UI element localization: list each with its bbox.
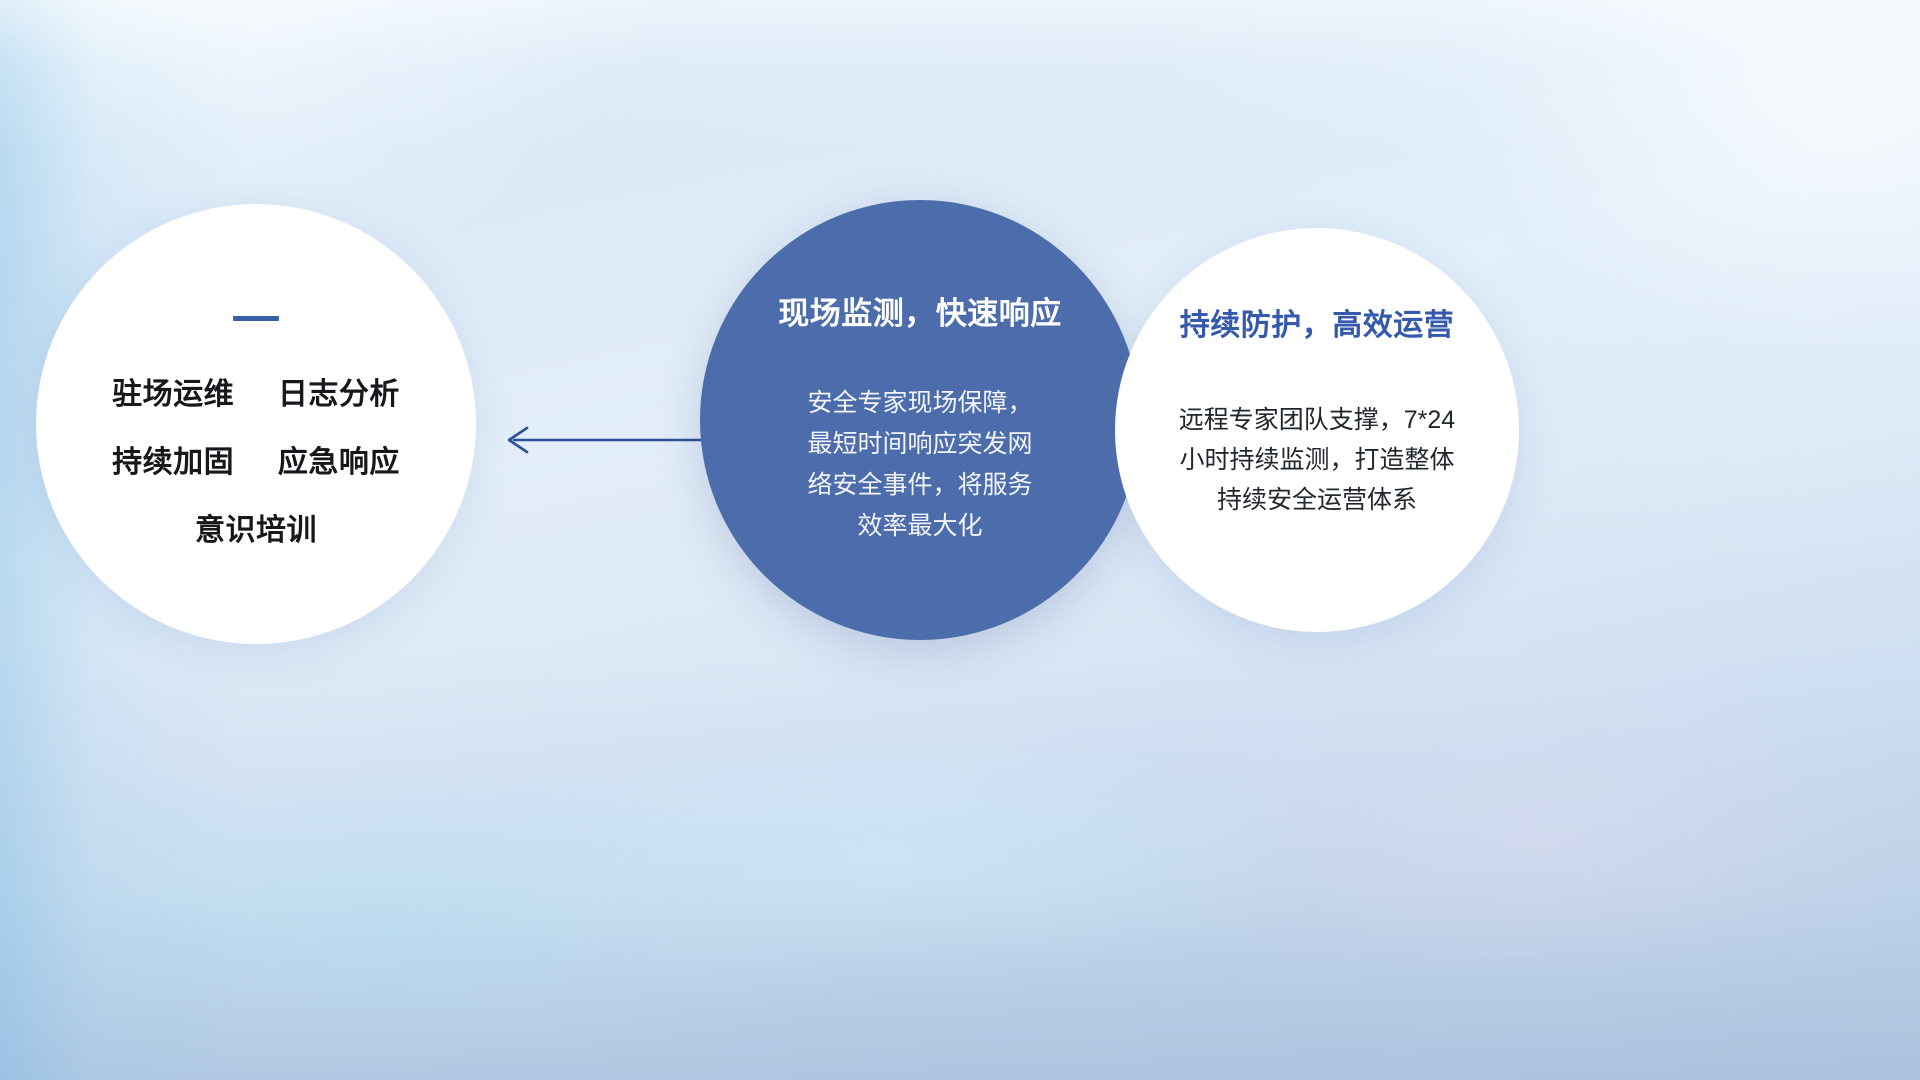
capability-list: 驻场运维 日志分析 持续加固 应急响应 意识培训 [112, 369, 400, 549]
body-line: 效率最大化 [770, 506, 1070, 547]
list-item: 驻场运维 日志分析 [112, 369, 400, 413]
card-body: 安全专家现场保障， 最短时间响应突发网 络安全事件，将服务 效率最大化 [770, 383, 1070, 547]
capability-circle-card[interactable]: 驻场运维 日志分析 持续加固 应急响应 意识培训 [36, 204, 476, 644]
card-title: 现场监测，快速响应 [778, 288, 1062, 333]
body-line: 持续安全运营体系 [1147, 480, 1487, 520]
onsite-monitoring-circle-card[interactable]: 现场监测，快速响应 安全专家现场保障， 最短时间响应突发网 络安全事件，将服务 … [700, 200, 1140, 640]
capability-label: 应急响应 [278, 446, 400, 479]
list-item: 意识培训 [195, 505, 317, 549]
continuous-protection-circle-card[interactable]: 持续防护，高效运营 远程专家团队支撑，7*24 小时持续监测，打造整体 持续安全… [1115, 228, 1519, 632]
body-line: 小时持续监测，打造整体 [1147, 440, 1487, 480]
horizontal-dash-icon [233, 316, 279, 321]
card-title: 持续防护，高效运营 [1180, 300, 1455, 344]
capability-label: 日志分析 [278, 378, 400, 411]
card-body: 远程专家团队支撑，7*24 小时持续监测，打造整体 持续安全运营体系 [1147, 400, 1487, 520]
slide-canvas: 驻场运维 日志分析 持续加固 应急响应 意识培训 现场监测，快速响应 安全专家现… [0, 0, 1920, 1080]
capability-label: 驻场运维 [112, 378, 234, 411]
body-line: 远程专家团队支撑，7*24 [1147, 400, 1487, 440]
body-line: 安全专家现场保障， [770, 383, 1070, 424]
capability-label: 意识培训 [195, 514, 317, 547]
body-line: 最短时间响应突发网 [770, 424, 1070, 465]
list-item: 持续加固 应急响应 [112, 437, 400, 481]
body-line: 络安全事件，将服务 [770, 465, 1070, 506]
capability-label: 持续加固 [112, 446, 234, 479]
